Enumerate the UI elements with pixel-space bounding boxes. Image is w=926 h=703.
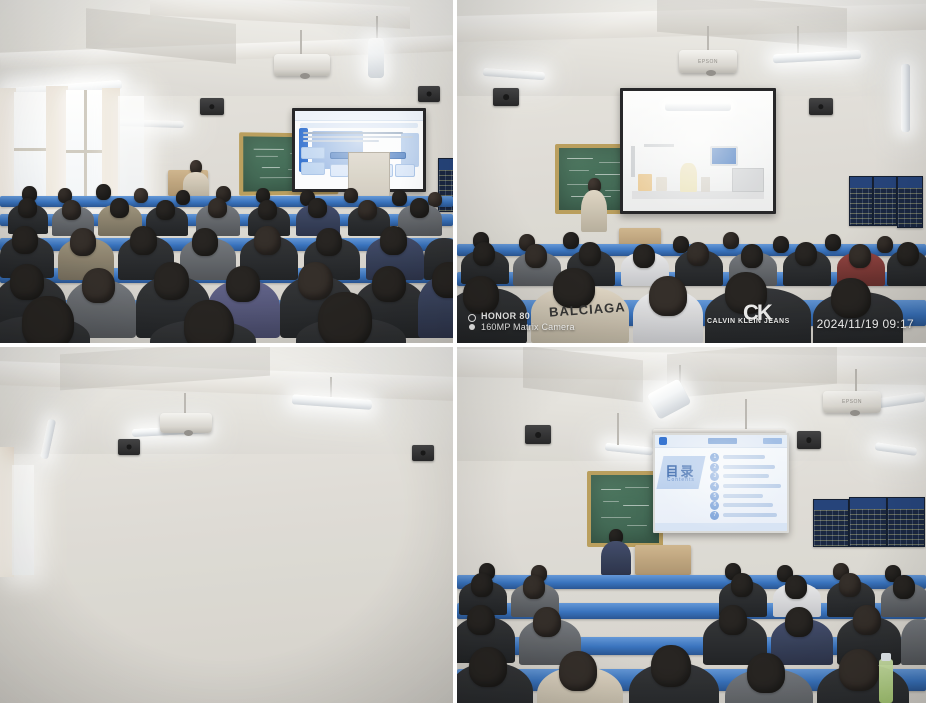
honor-board-header: [814, 500, 848, 510]
projection-screen-canvas: [623, 91, 773, 211]
toc-item-number: 5: [710, 492, 719, 501]
audience-head: [741, 244, 763, 268]
audience-head: [154, 262, 189, 300]
slide-diagram-box: [395, 164, 415, 177]
toc-item-number: 2: [710, 463, 719, 472]
audience-head: [62, 200, 81, 220]
wall-speaker: [525, 425, 551, 444]
projection-screen-canvas: 目录 Contents 1 2 3: [655, 435, 787, 531]
projector-lens: [706, 70, 716, 76]
chalk-mark: [625, 487, 649, 488]
lab-pillar: [631, 146, 636, 177]
audience-head: [82, 268, 115, 303]
audience-head-foreground: [649, 276, 687, 316]
projection-screen: [620, 88, 776, 214]
toc-item-label: [723, 484, 781, 488]
audience-head: [853, 605, 881, 635]
audience-head: [719, 605, 747, 635]
photo-collage: EPSON: [0, 0, 926, 703]
slide-diagram-box: [330, 164, 350, 177]
honor-board-grid: [850, 188, 872, 225]
photo-top-left: [0, 0, 457, 347]
projector-rod: [707, 26, 709, 52]
audience-head: [344, 188, 358, 203]
projector-rod: [855, 369, 857, 393]
wall-speaker: [412, 445, 434, 461]
audience-head: [525, 244, 547, 268]
photo-timestamp: 2024/11/19 09:17: [817, 317, 914, 331]
audience-head: [258, 200, 277, 220]
audience-head: [10, 264, 44, 300]
honor-board-header: [439, 159, 453, 170]
chalkboard: [587, 471, 663, 547]
projection-screen: 目录 Contents 1 2 3: [653, 433, 789, 533]
projector-lens: [300, 73, 310, 79]
lab-person: [680, 163, 697, 192]
audience-head: [785, 607, 813, 637]
chalk-mark: [256, 156, 278, 157]
toc-item-label: [723, 494, 763, 498]
wall-speaker: [118, 439, 140, 455]
slide-footer-bar: [655, 523, 787, 531]
presenter-pointing-at-slide: [0, 347, 453, 703]
honor-board: [897, 176, 923, 228]
honor-board: [887, 497, 925, 547]
projector-rod: [300, 30, 302, 56]
lecture-hall-speaker-at-screen: EPSON: [457, 0, 926, 343]
audience-head: [226, 266, 260, 302]
slide-diagram-box: [301, 147, 325, 159]
audience-head: [316, 228, 342, 256]
audience-head: [723, 232, 739, 249]
slide-text-line: [303, 136, 413, 138]
garment-logo-text: [238, 320, 242, 331]
presenter-body: [581, 190, 607, 232]
chalk-mark: [601, 489, 621, 490]
audience-head: [96, 184, 111, 200]
garment-logo-calvin-klein-jeans: CALVIN KLEIN JEANS: [707, 318, 790, 325]
audience-head: [795, 242, 817, 266]
slide-section-band: [300, 123, 418, 128]
audience-head: [358, 200, 377, 220]
audience-head: [731, 573, 753, 597]
audience-head: [410, 198, 429, 218]
audience-head: [773, 236, 789, 253]
audience-head: [372, 266, 406, 302]
slide-table-of-contents: 目录 Contents 1 2 3: [655, 435, 787, 531]
light-rod: [376, 16, 378, 40]
audience-head-foreground: [747, 653, 785, 693]
toc-item-label: [723, 513, 777, 517]
light-rod: [797, 26, 799, 54]
honor-board-grid: [888, 509, 924, 546]
toc-item-number: 1: [710, 453, 719, 462]
audience-head-foreground: [463, 276, 499, 314]
honor-board-grid: [850, 509, 886, 546]
projector-brand-label: [274, 62, 330, 68]
chalk-mark: [627, 525, 647, 526]
toc-item-label: [723, 474, 769, 478]
photo-bottom-left: [0, 347, 457, 703]
lab-ceiling-light: [665, 103, 731, 111]
chalk-mark: [567, 158, 593, 159]
wall-speaker: [418, 86, 440, 102]
projector-brand-label: EPSON: [679, 59, 737, 65]
audience-head: [110, 198, 129, 218]
audience-head: [130, 226, 157, 255]
audience-head: [134, 188, 148, 203]
honor-board-grid: [898, 188, 922, 227]
chalk-mark: [262, 167, 280, 168]
honor-board-header: [888, 498, 924, 509]
honor-board: [873, 176, 897, 226]
lab-monitor: [710, 146, 738, 166]
audience-head: [254, 226, 281, 255]
slide-diagram-box: [301, 162, 325, 174]
audience-head: [471, 573, 493, 597]
audience-head: [825, 234, 841, 251]
chalk-mark: [569, 170, 589, 171]
slide-header-badge: [401, 133, 419, 167]
wall-speaker: [809, 98, 833, 115]
wall-speaker: [493, 88, 519, 106]
chalk-mark: [603, 501, 619, 502]
audience-body: [901, 619, 926, 665]
audience-head-foreground: [318, 292, 372, 343]
ceiling-projector: [274, 54, 330, 76]
audience-head-foreground: [559, 651, 597, 691]
projector-brand-label: [160, 421, 212, 427]
audience-head-foreground: [184, 300, 234, 343]
audience-head: [192, 228, 218, 256]
ceiling-light-tube: [901, 64, 910, 132]
audience-head: [563, 232, 579, 249]
audience-head: [579, 242, 601, 266]
audience-head-foreground: [22, 296, 74, 343]
toc-item-label: [723, 503, 773, 507]
desk-item-water-bottle: [879, 659, 893, 703]
camera-ring-icon: [468, 314, 476, 322]
audience-head: [208, 198, 227, 218]
honor-board: [849, 497, 887, 547]
slide-text-line: [303, 140, 380, 142]
desk-item-bottle-cap-icon: [881, 653, 891, 661]
window-mullion: [84, 90, 87, 208]
camera-brand-label: HONOR 80: [481, 311, 575, 321]
camera-spec-label: 160MP Matrix Camera: [481, 322, 575, 332]
chalk-mark: [623, 505, 649, 506]
lecture-hall-contents-slide: EPSON: [457, 347, 926, 703]
ceiling-projector: [160, 413, 212, 433]
chalk-mark: [601, 517, 631, 518]
slide-header-bar: [295, 111, 423, 121]
honor-board-header: [898, 177, 922, 188]
lecture-hall-wide-rear-view: [0, 0, 453, 343]
audience-head: [298, 262, 333, 300]
slide-header-brand: [763, 438, 781, 444]
ceiling-projector: EPSON: [679, 50, 737, 73]
honor-board-grid: [874, 188, 896, 225]
toc-item-label: [723, 455, 765, 459]
audience-head-foreground: [469, 647, 507, 687]
lab-equipment: [638, 174, 652, 191]
projector-brand-label: EPSON: [823, 399, 881, 405]
toc-heading-en: Contents: [667, 477, 695, 483]
audience-head: [839, 573, 861, 597]
ceiling-projector: EPSON: [823, 391, 881, 413]
audience-head: [176, 190, 190, 205]
wall-speaker: [200, 98, 224, 115]
audience-head: [467, 605, 495, 635]
projector-rod: [184, 393, 186, 415]
slide-logo: [659, 437, 667, 445]
podium: [635, 545, 691, 575]
audience-head: [308, 198, 327, 218]
audience-head: [633, 244, 655, 268]
lab-shelf: [644, 144, 674, 148]
camera-watermark-text: HONOR 80 160MP Matrix Camera: [481, 311, 575, 332]
honor-board: [813, 499, 849, 547]
projector-lens: [850, 410, 860, 416]
photo-bottom-right: EPSON: [457, 347, 926, 703]
audience-head: [432, 262, 453, 298]
audience-head: [785, 575, 807, 599]
audience-head: [70, 228, 96, 256]
photo-top-right: EPSON: [457, 0, 926, 347]
toc-item-number: 3: [710, 472, 719, 481]
lab-equipment: [656, 177, 667, 190]
audience-head: [18, 198, 37, 218]
audience-head-foreground: [831, 278, 871, 318]
audience-head: [380, 226, 407, 255]
audience-head: [687, 242, 709, 266]
lab-bench: [632, 191, 764, 199]
toc-item-number: 7: [710, 511, 719, 520]
window-mullion: [14, 148, 48, 151]
camera-dot-icon: [469, 324, 475, 330]
ceiling-light-tube: [368, 38, 384, 78]
audience-head: [533, 607, 561, 637]
toc-item-label: [723, 465, 775, 469]
lab-cabinet: [732, 168, 764, 192]
audience-head: [897, 242, 919, 266]
honor-board-header: [850, 177, 872, 188]
light-rod: [617, 413, 619, 445]
slide-header-title: [708, 438, 737, 444]
toc-item-number: 4: [710, 482, 719, 491]
lab-equipment: [701, 177, 710, 191]
audience-head-foreground: [651, 645, 691, 687]
audience-head-foreground: [839, 649, 879, 691]
honor-board-grid: [814, 510, 848, 546]
camera-watermark-icon: [468, 313, 476, 330]
window: [12, 465, 34, 575]
wall-speaker: [797, 431, 821, 449]
slide-text-line: [303, 132, 403, 134]
chalk-mark: [254, 149, 284, 150]
presenter-body: [601, 541, 631, 575]
audience-head: [523, 575, 545, 599]
audience-head: [473, 242, 495, 266]
toc-item-number: 6: [710, 501, 719, 510]
audience-head: [877, 236, 893, 253]
audience-head: [849, 244, 871, 268]
honor-board-header: [850, 498, 886, 509]
audience-head: [392, 190, 407, 206]
light-rod: [745, 399, 747, 433]
slide-lab-photo: [623, 91, 773, 211]
audience-head: [156, 200, 175, 220]
honor-board-header: [874, 177, 896, 188]
honor-board: [849, 176, 873, 226]
audience-head: [893, 575, 915, 599]
audience-head: [12, 226, 38, 254]
camera-watermark: HONOR 80 160MP Matrix Camera: [468, 311, 575, 332]
